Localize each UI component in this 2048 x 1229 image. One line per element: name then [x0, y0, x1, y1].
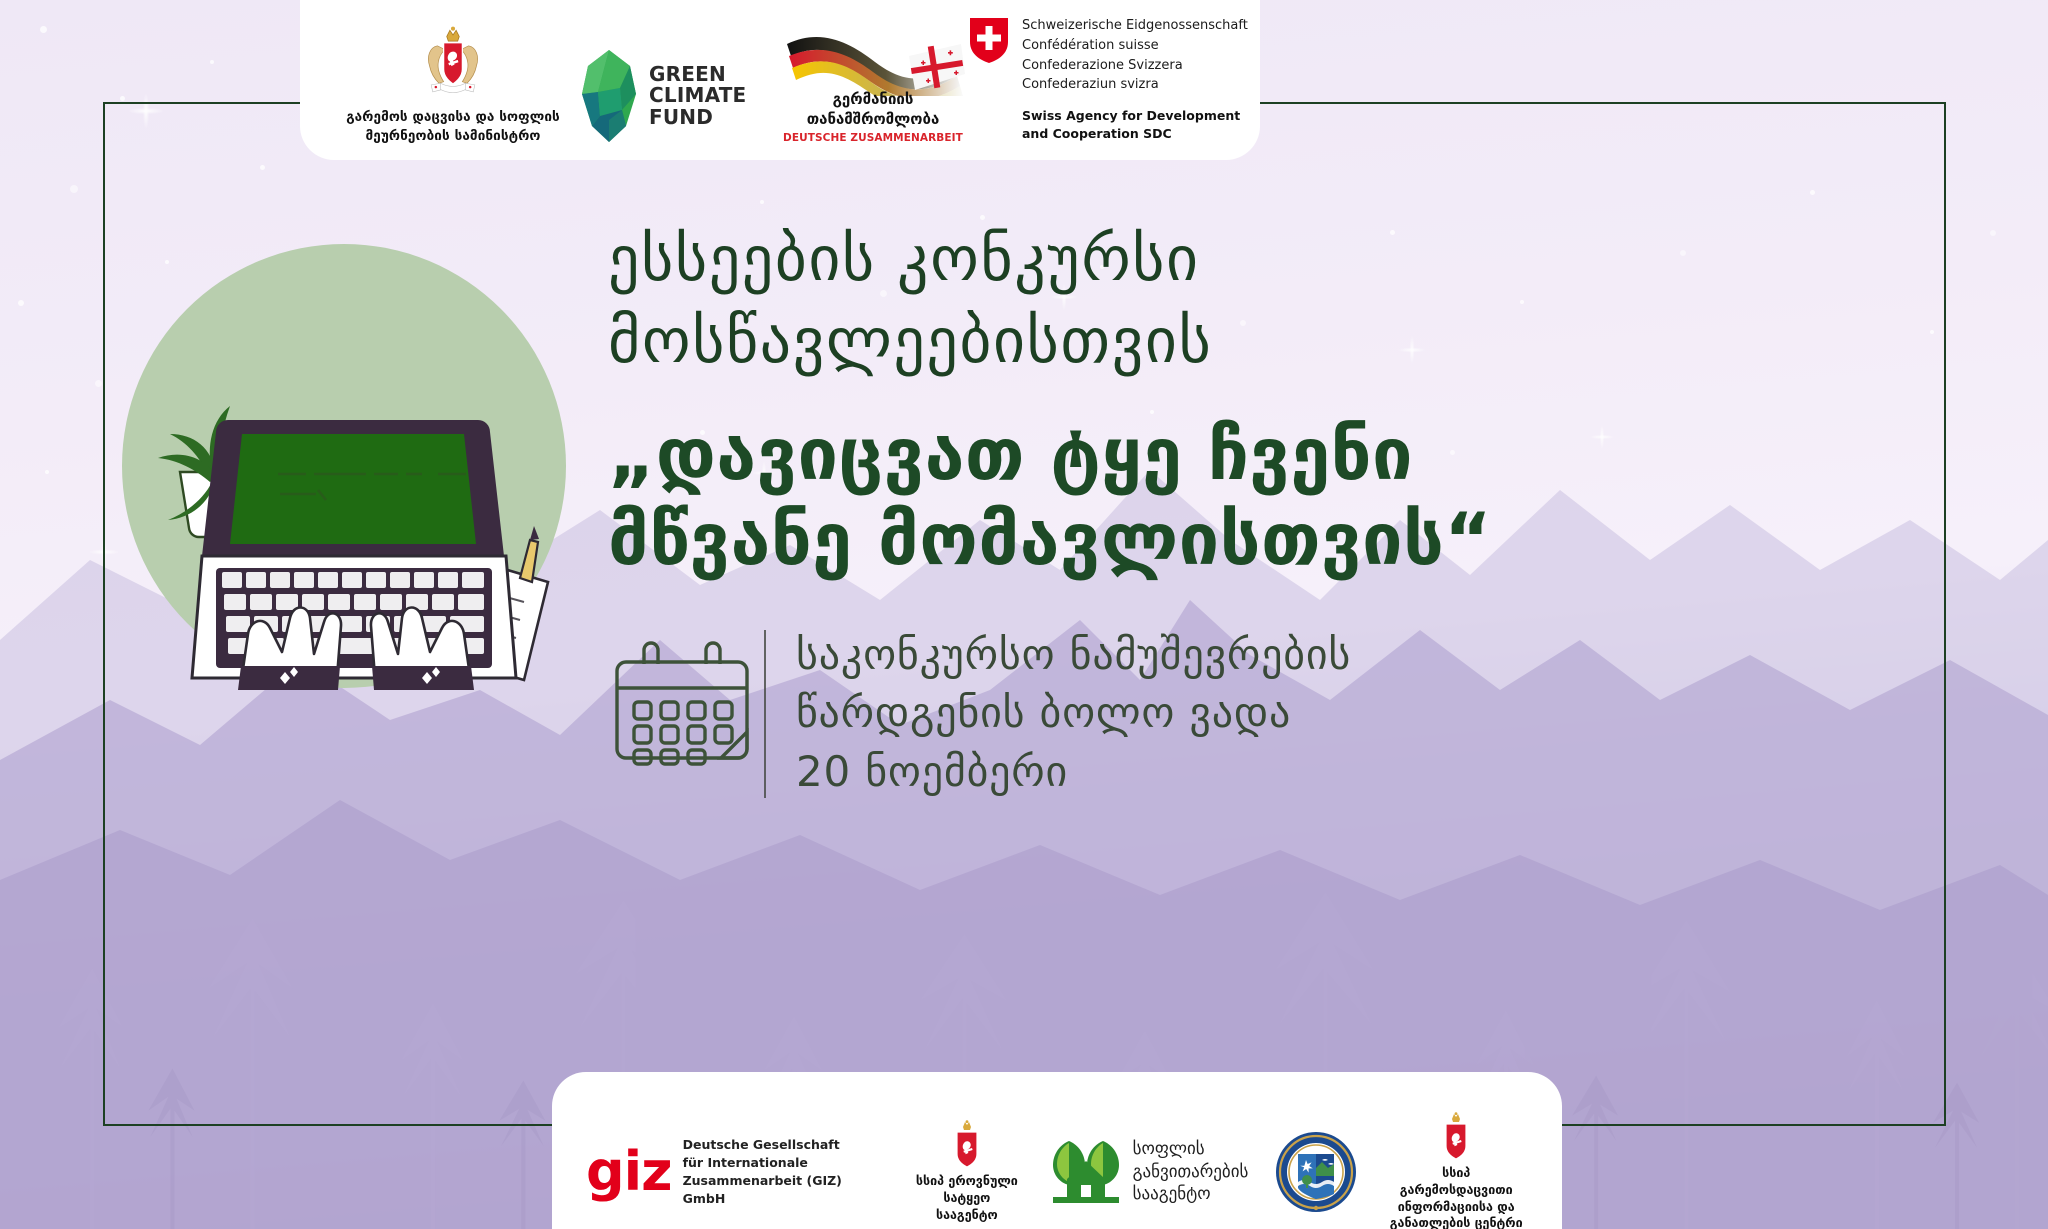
georgia-coat-of-arms-icon [414, 24, 492, 102]
trees-house-icon [1049, 1139, 1123, 1205]
heading-line-1: ესსეების კონკურსი [608, 218, 1938, 300]
georgia-coat-of-arms-small-icon [1439, 1112, 1473, 1160]
protected-areas-agency-seal-icon [1274, 1130, 1358, 1214]
gcf-line-3: FUND [649, 107, 746, 128]
german-coop-ka-2: თანამშრომლობა [807, 110, 940, 130]
eco-center-line-3: განათლების ცენტრი [1384, 1215, 1528, 1229]
ministry-line-2: მეურნეობის სამინისტრო [346, 127, 560, 146]
german-coop-ka: გერმანიის თანამშრომლობა [807, 90, 940, 129]
swiss-bold-1: Swiss Agency for Development [1022, 107, 1248, 125]
eco-center-line-2: ინფორმაციისა და [1384, 1199, 1528, 1216]
swiss-names: Schweizerische Eidgenossenschaft Confédé… [1022, 16, 1248, 95]
deadline-divider [764, 630, 766, 798]
giz-sub-3: Zusammenarbeit (GIZ) GmbH [683, 1172, 885, 1208]
logo-ministry-environment: გარემოს დაცვისა და სოფლის მეურნეობის სამ… [328, 24, 578, 146]
swiss-cross-shield-icon [968, 16, 1010, 64]
title-line-2: მწვანე მომავლისთვის“ [608, 497, 1938, 582]
footer-logo-bar: giz Deutsche Gesellschaft für Internatio… [552, 1072, 1562, 1229]
swiss-line-1: Schweizerische Eidgenossenschaft [1022, 16, 1248, 36]
rda-line-1: სოფლის [1133, 1138, 1249, 1161]
laptop-icon [192, 420, 516, 690]
giz-subtitle: Deutsche Gesellschaft für Internationale… [683, 1136, 885, 1209]
green-climate-fund-gem-icon [578, 48, 640, 144]
forestry-line-1: სსიპ ეროვნული [911, 1173, 1023, 1190]
logo-green-climate-fund: GREEN CLIMATE FUND [578, 48, 778, 146]
deadline-block: საკონკურსო ნამუშევრების წარდგენის ბოლო ვ… [608, 626, 1938, 802]
deadline-text: საკონკურსო ნამუშევრების წარდგენის ბოლო ვ… [796, 626, 1351, 802]
title-line-1: „დავიცვათ ტყე ჩვენი [608, 412, 1938, 497]
logo-giz: giz Deutsche Gesellschaft für Internatio… [586, 1136, 885, 1209]
swiss-bold-2: and Cooperation SDC [1022, 125, 1248, 143]
logo-protected-areas-agency [1274, 1130, 1358, 1214]
gcf-line-2: CLIMATE [649, 85, 746, 106]
logo-german-cooperation: გერმანიის თანამშრომლობა DEUTSCHE ZUSAMME… [778, 28, 968, 146]
swiss-line-2: Confédération suisse [1022, 36, 1248, 56]
swiss-line-3: Confederazione Svizzera [1022, 56, 1248, 76]
logo-rural-development-agency: სოფლის განვითარების სააგენტო [1049, 1138, 1249, 1206]
logo-environmental-education-center: სსიპ გარემოსდაცვითი ინფორმაციისა და განა… [1384, 1112, 1528, 1229]
person-typing-on-laptop-illustration [120, 242, 568, 690]
deadline-line-3: 20 ნოემბერი [796, 743, 1351, 802]
forestry-line-2: სატყეო სააგენტო [911, 1190, 1023, 1224]
header-logo-bar: გარემოს დაცვისა და სოფლის მეურნეობის სამ… [300, 0, 1260, 160]
main-content: ესსეების კონკურსი მოსწავლეებისთვის „დავი… [608, 218, 1938, 802]
calendar-icon [608, 626, 758, 784]
eco-center-line-1: სსიპ გარემოსდაცვითი [1384, 1165, 1528, 1199]
ministry-name: გარემოს დაცვისა და სოფლის მეურნეობის სამ… [346, 108, 560, 146]
giz-sub-2: für Internationale [683, 1154, 885, 1172]
german-coop-ka-1: გერმანიის [807, 90, 940, 110]
swiss-agency-name: Swiss Agency for Development and Coopera… [1022, 107, 1248, 142]
eco-center-name: სსიპ გარემოსდაცვითი ინფორმაციისა და განა… [1384, 1165, 1528, 1229]
ministry-line-1: გარემოს დაცვისა და სოფლის [346, 108, 560, 127]
rural-development-agency-name: სოფლის განვითარების სააგენტო [1133, 1138, 1249, 1206]
gcf-wordmark: GREEN CLIMATE FUND [649, 64, 746, 128]
deadline-line-2: წარდგენის ბოლო ვადა [796, 684, 1351, 743]
logo-swiss-confederation: Schweizerische Eidgenossenschaft Confédé… [968, 16, 1248, 146]
forestry-agency-name: სსიპ ეროვნული სატყეო სააგენტო [911, 1173, 1023, 1224]
heading-line-2: მოსწავლეებისთვის [608, 300, 1938, 382]
swiss-line-4: Confederaziun svizra [1022, 75, 1248, 95]
rda-line-3: სააგენტო [1133, 1183, 1249, 1206]
deadline-line-1: საკონკურსო ნამუშევრების [796, 626, 1351, 685]
germany-georgia-flag-ribbon-icon [781, 28, 965, 96]
contest-title: „დავიცვათ ტყე ჩვენი მწვანე მომავლისთვის“ [608, 412, 1938, 582]
gcf-line-1: GREEN [649, 64, 746, 85]
giz-wordmark: giz [586, 1150, 672, 1193]
georgia-coat-of-arms-small-icon [950, 1120, 984, 1168]
giz-sub-1: Deutsche Gesellschaft [683, 1136, 885, 1154]
german-coop-de: DEUTSCHE ZUSAMMENARBEIT [783, 132, 963, 144]
subject-heading: ესსეების კონკურსი მოსწავლეებისთვის [608, 218, 1938, 382]
rda-line-2: განვითარების [1133, 1161, 1249, 1184]
logo-forestry-agency: სსიპ ეროვნული სატყეო სააგენტო [911, 1120, 1023, 1224]
